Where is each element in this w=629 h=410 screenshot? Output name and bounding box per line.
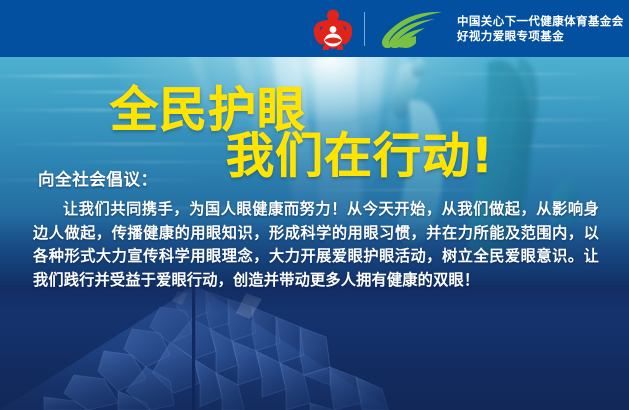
org-name-line-2: 好视力爱眼专项基金 [457,29,624,44]
header-divider [364,12,365,46]
organization-name: 中国关心下一代健康体育基金会 好视力爱眼专项基金 [457,14,624,44]
header-bar: 中国关心下一代健康体育基金会 好视力爱眼专项基金 [0,0,629,57]
water-cube-facade [0,285,629,410]
proposal-paragraph: 让我们共同携手，为国人眼健康而努力！从今天开始，从我们做起，从影响身边人做起，传… [33,198,599,292]
brand-lockup: 中国关心下一代健康体育基金会 好视力爱眼专项基金 [313,6,624,52]
good-vision-leaf-eye-logo [378,10,444,48]
poster-root: 全民护眼 我们在行动! 向全社会倡议： 让我们共同携手，为国人眼健康而努力！从今… [0,0,629,410]
proposal-heading: 向全社会倡议： [38,166,158,190]
care-for-next-generation-emblem [313,8,353,50]
org-name-line-1: 中国关心下一代健康体育基金会 [457,14,624,29]
